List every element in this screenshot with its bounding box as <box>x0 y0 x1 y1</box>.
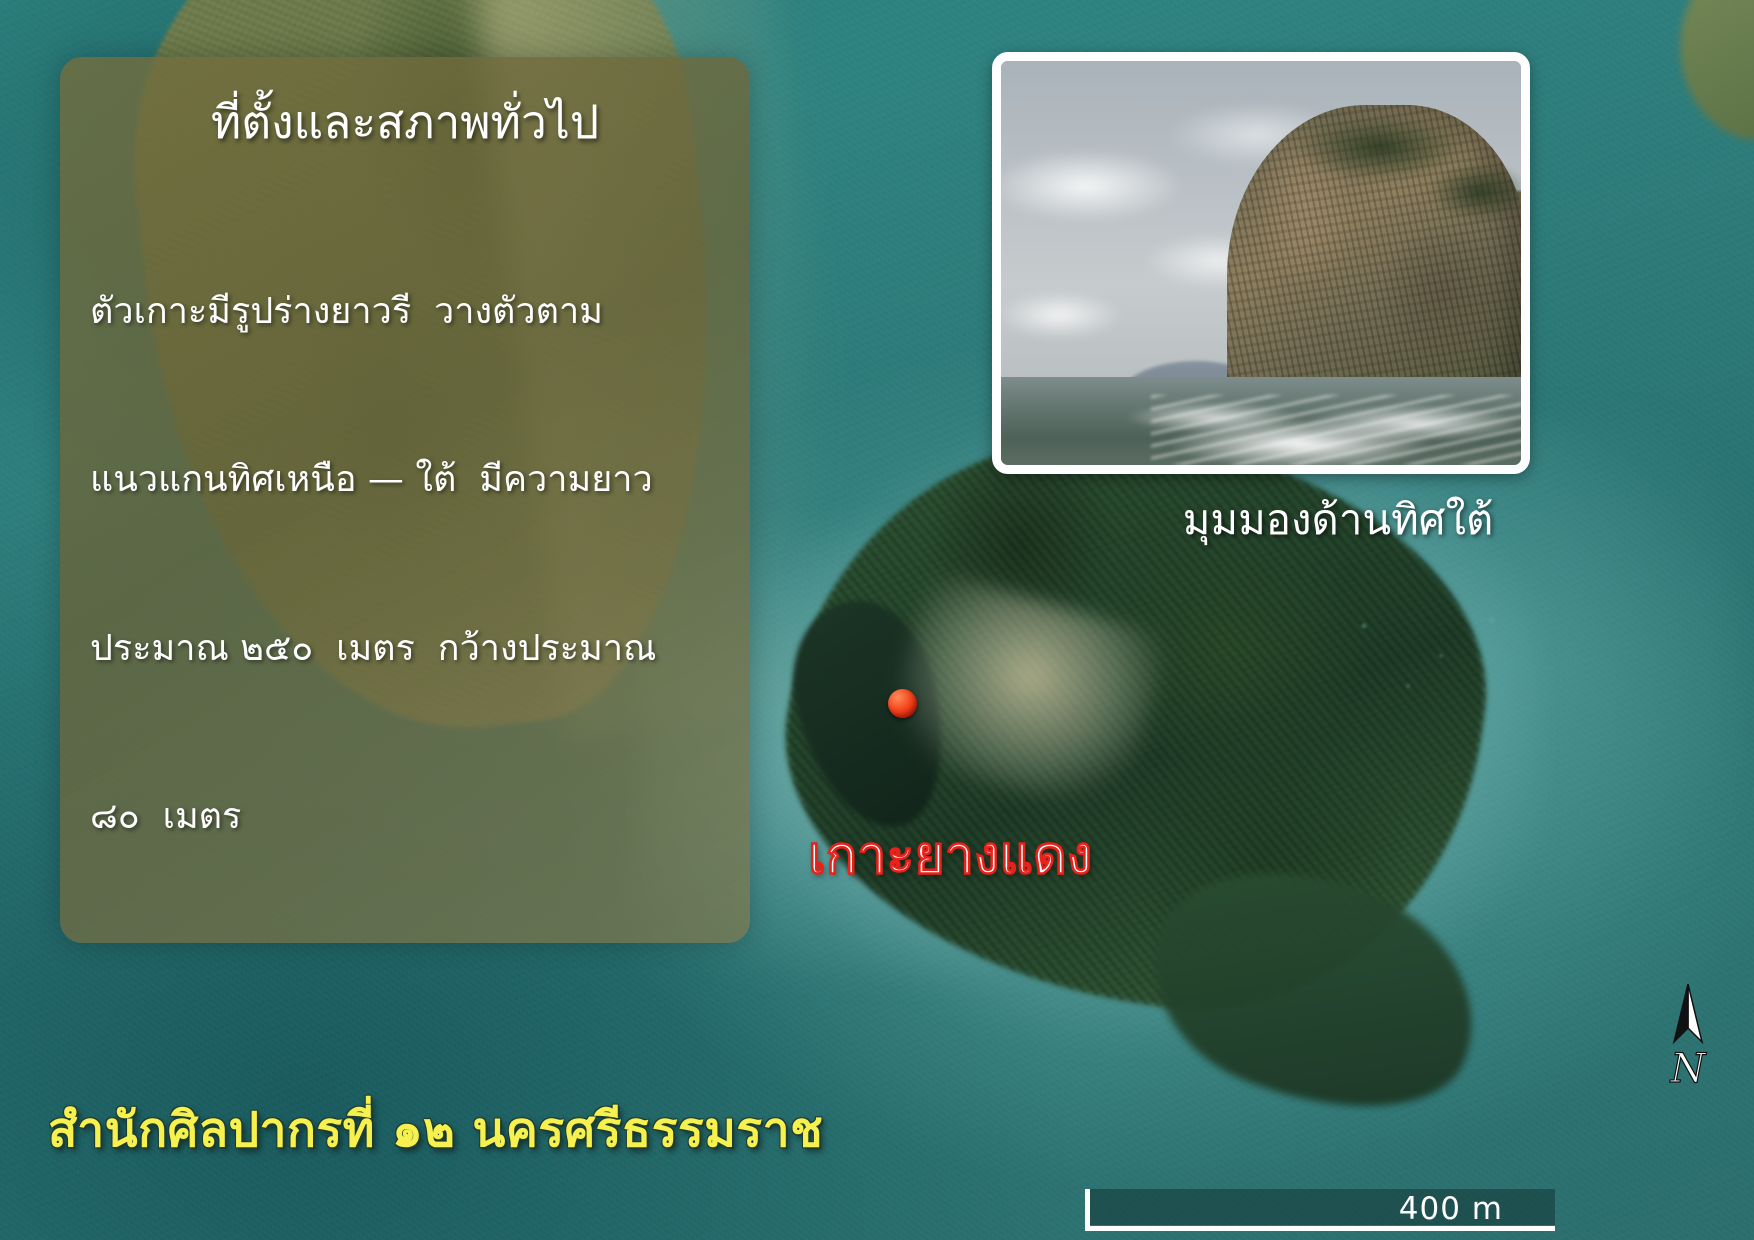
panel-line: ตัวเกาะมีรูปร่างยาวรี วางตัวตาม <box>90 284 724 340</box>
panel-title: ที่ตั้งและสภาพทั่วไป <box>60 57 750 154</box>
reef-markings <box>1320 590 1540 710</box>
north-letter: N <box>1670 1046 1708 1090</box>
scale-bar-label: 400 m <box>1399 1191 1503 1227</box>
north-arrow-icon: N <box>1648 980 1728 1090</box>
scale-bar-left-tick <box>1085 1189 1090 1231</box>
panel-line: ประมาณ ๒๕๐ เมตร กว้างประมาณ <box>90 621 724 677</box>
photo-inset <box>992 52 1530 474</box>
footer-organization-title: สำนักศิลปากรที่ ๑๒ นครศรีธรรมราช <box>48 1092 823 1168</box>
site-location-marker[interactable] <box>888 689 917 718</box>
photo-caption: มุมมองด้านทิศใต้ <box>1148 487 1528 553</box>
info-panel: ที่ตั้งและสภาพทั่วไป ตัวเกาะมีรูปร่างยาว… <box>60 57 750 943</box>
panel-line: แนวแกนทิศเหนือ — ใต้ มีความยาว <box>90 452 724 508</box>
panel-line: ๘๐ เมตร <box>90 789 724 845</box>
scale-bar: 400 m <box>1085 1189 1555 1231</box>
photo-karst-vegetation <box>1237 105 1523 245</box>
island-name-label: เกาะยางแดง <box>808 813 1092 896</box>
panel-body: ตัวเกาะมีรูปร่างยาวรี วางตัวตาม แนวแกนทิ… <box>60 154 750 943</box>
photo-boat-wake-lines <box>1151 395 1530 465</box>
